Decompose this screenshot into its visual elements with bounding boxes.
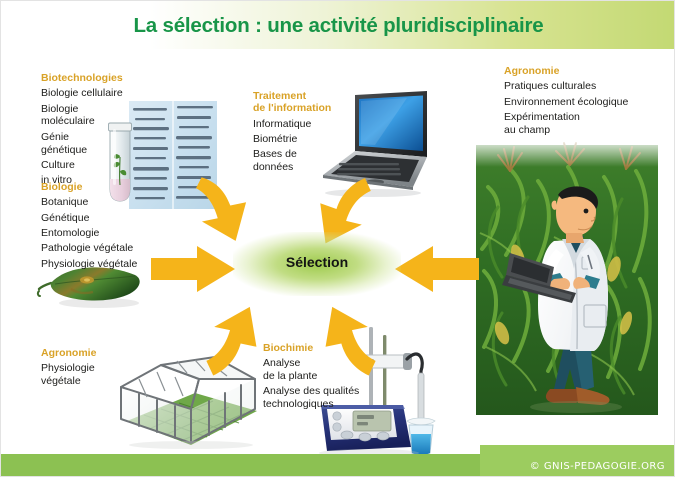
- block-category-agronomie-gauche: Agronomie: [41, 347, 131, 359]
- list-item: Physiologie végétale: [41, 362, 131, 388]
- block-category-biotechnologies: Biotechnologies: [41, 72, 147, 84]
- page-title: La sélection : une activité pluridiscipl…: [1, 14, 675, 38]
- list-item: Génie génétique: [41, 131, 147, 157]
- block-category-traitement-information: Traitement de l'information: [253, 90, 345, 115]
- list-item: Expérimentation au champ: [504, 111, 654, 137]
- copyright-text: © GNIS-PEDAGOGIE.ORG: [530, 461, 665, 472]
- block-agronomie-droite: Agronomie Pratiques culturales Environne…: [504, 65, 654, 139]
- block-items-biochimie: Analyse de la plante Analyse des qualité…: [263, 357, 367, 411]
- list-item: Analyse des qualités technologiques: [263, 385, 367, 411]
- arrow-left: [393, 244, 481, 294]
- list-item: Botanique: [41, 196, 181, 209]
- block-category-biochimie: Biochimie: [263, 342, 367, 354]
- block-items-biotechnologies: Biologie cellulaire Biologie moléculaire…: [41, 87, 147, 187]
- list-item: Biologie cellulaire: [41, 87, 147, 100]
- block-biotechnologies: Biotechnologies Biologie cellulaire Biol…: [41, 72, 147, 189]
- list-item: Informatique: [253, 118, 345, 131]
- list-item: Analyse de la plante: [263, 357, 367, 383]
- list-item: Entomologie: [41, 227, 181, 240]
- list-item: Environnement écologique: [504, 96, 654, 109]
- block-biochimie: Biochimie Analyse de la plante Analyse d…: [263, 342, 367, 414]
- infographic-poster: La sélection : une activité pluridiscipl…: [0, 0, 675, 477]
- list-item: Biologie moléculaire: [41, 103, 147, 129]
- list-item: Physiologie végétale: [41, 258, 181, 271]
- block-items-agronomie-droite: Pratiques culturales Environnement écolo…: [504, 80, 654, 136]
- list-item: Bases de données: [253, 148, 345, 174]
- list-item: Biométrie: [253, 133, 345, 146]
- block-agronomie-gauche: Agronomie Physiologie végétale: [41, 347, 131, 390]
- block-items-agronomie-gauche: Physiologie végétale: [41, 362, 131, 388]
- list-item: Culture: [41, 159, 147, 172]
- block-items-traitement-information: Informatique Biométrie Bases de données: [253, 118, 345, 174]
- list-item: Pathologie végétale: [41, 242, 181, 255]
- selection-core-label: Sélection: [233, 254, 401, 270]
- agronomist-in-maize-field-image: [458, 137, 675, 427]
- block-traitement-information: Traitement de l'information Informatique…: [253, 90, 345, 176]
- list-item: Génétique: [41, 212, 181, 225]
- block-items-biologie: Botanique Génétique Entomologie Patholog…: [41, 196, 181, 270]
- block-category-agronomie-droite: Agronomie: [504, 65, 654, 77]
- block-biologie: Biologie Botanique Génétique Entomologie…: [41, 181, 181, 273]
- block-category-biologie: Biologie: [41, 181, 181, 193]
- list-item: Pratiques culturales: [504, 80, 654, 93]
